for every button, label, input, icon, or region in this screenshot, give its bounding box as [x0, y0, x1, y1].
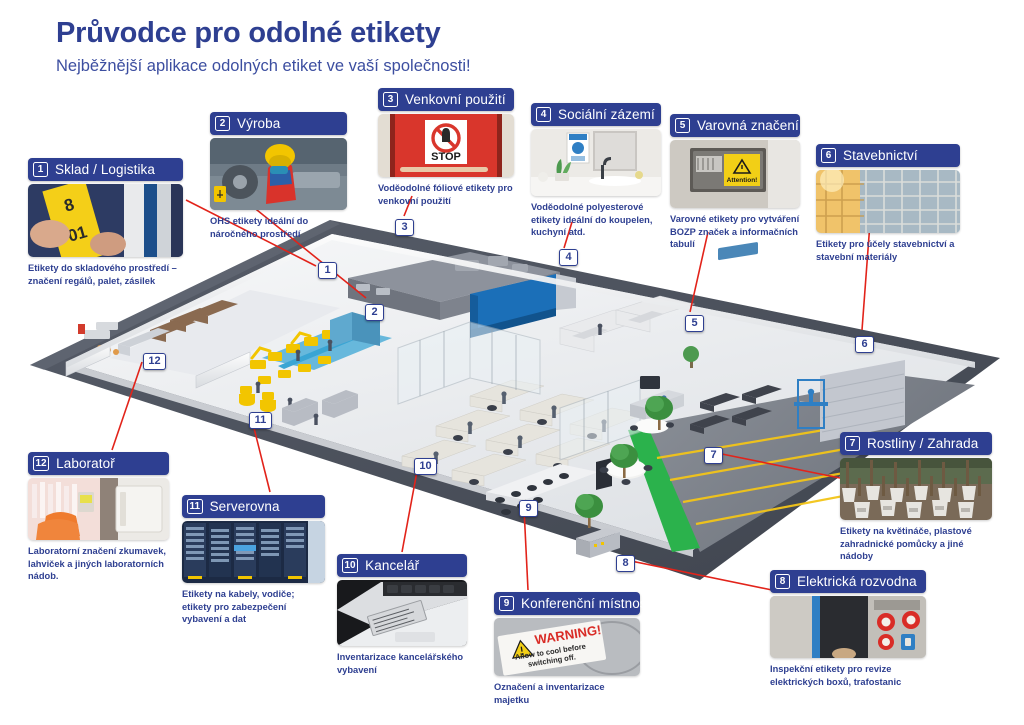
callout-photo-red-stop-sign-board: STOP: [378, 114, 514, 177]
callout-photo-server-racks: [182, 521, 325, 583]
callout-caption: Etikety na květináče, plastové zahradnic…: [840, 525, 992, 563]
callout-photo-lab-test-tubes-gloved-hand: [28, 478, 169, 540]
map-marker-5[interactable]: 5: [685, 315, 704, 332]
callout-number: 8: [775, 574, 790, 589]
callout-caption: Etikety na kabely, vodiče; etikety pro z…: [182, 588, 325, 626]
callout-caption: Laboratorní značení zkumavek, lahviček a…: [28, 545, 169, 583]
marker-label: 4: [565, 252, 571, 263]
callout-header: 7 Rostliny / Zahrada: [840, 432, 992, 455]
callout-card-1[interactable]: 1 Sklad / Logistika 8 01 Etikety do skla…: [28, 158, 183, 287]
callout-number: 1: [33, 162, 48, 177]
map-marker-6[interactable]: 6: [855, 336, 874, 353]
callout-caption: Inventarizace kancelářského vybavení: [337, 651, 467, 676]
callout-number: 7: [845, 436, 860, 451]
map-marker-9[interactable]: 9: [519, 500, 538, 517]
callout-caption: Označení a inventarizace majetku: [494, 681, 640, 706]
callout-header: 6 Stavebnictví: [816, 144, 960, 167]
callout-title: Serverovna: [210, 499, 280, 514]
callout-photo-electrical-substation-sockets: [770, 596, 926, 658]
callout-number: 11: [187, 499, 203, 514]
map-marker-7[interactable]: 7: [704, 447, 723, 464]
marker-label: 11: [255, 415, 267, 426]
marker-label: 9: [525, 503, 531, 514]
callout-card-11[interactable]: 11 Serverovna: [182, 495, 325, 626]
marker-label: 10: [419, 461, 431, 472]
callout-card-4[interactable]: 4 Sociální zázemí: [531, 103, 661, 239]
stop-sign-text: STOP: [431, 151, 461, 163]
callout-caption: Varovné etikety pro vytváření BOZP znače…: [670, 213, 800, 251]
callout-card-7[interactable]: 7 Rostliny / Zahrada: [840, 432, 992, 563]
callout-title: Sklad / Logistika: [55, 162, 155, 177]
callout-title: Kancelář: [365, 558, 419, 573]
marker-label: 12: [148, 356, 160, 367]
callout-photo-factory-worker-lathe: [210, 138, 347, 210]
callout-card-8[interactable]: 8 Elektrická rozvodna: [770, 570, 926, 688]
callout-number: 12: [33, 456, 49, 471]
callout-card-9[interactable]: 9 Konferenční místnost WARNING! Allow to…: [494, 592, 640, 706]
callout-photo-bathroom-sink-sign: [531, 129, 661, 196]
page-header: Průvodce pro odolné etikety Nejběžnější …: [56, 18, 471, 77]
callout-card-12[interactable]: 12 Laboratoř: [28, 452, 169, 583]
reception-monitor: [640, 376, 660, 389]
marker-label: 8: [622, 558, 628, 569]
callout-title: Výroba: [237, 116, 280, 131]
callout-photo-construction-scaffolding: [816, 170, 960, 233]
map-marker-1[interactable]: 1: [318, 262, 337, 279]
callout-photo-potted-plants-nursery: [840, 458, 992, 520]
map-marker-11[interactable]: 11: [249, 412, 272, 429]
callout-header: 8 Elektrická rozvodna: [770, 570, 926, 593]
callout-number: 10: [342, 558, 358, 573]
lab-red-cabinet: [78, 324, 85, 334]
callout-caption: Etikety pro účely stavebnictví a stavebn…: [816, 238, 960, 263]
callout-header: 5 Varovná značení: [670, 114, 800, 137]
callout-header: 12 Laboratoř: [28, 452, 169, 475]
callout-caption: Etikety do skladového prostředí – značen…: [28, 262, 183, 287]
callout-title: Stavebnictví: [843, 148, 918, 163]
callout-header: 3 Venkovní použití: [378, 88, 514, 111]
map-marker-3[interactable]: 3: [395, 219, 414, 236]
callout-caption: Voděodolné polyesterové etikety ideální …: [531, 201, 661, 239]
callout-title: Konferenční místnost: [521, 596, 651, 611]
callout-card-2[interactable]: 2 Výroba OHS etikety ideální do náročnéh…: [210, 112, 347, 240]
map-marker-10[interactable]: 10: [414, 458, 437, 475]
callout-card-3[interactable]: 3 Venkovní použití STOP Voděodolné fólio…: [378, 88, 514, 207]
callout-number: 2: [215, 116, 230, 131]
callout-header: 9 Konferenční místnost: [494, 592, 640, 615]
callout-caption: Voděodolné fóliové etikety pro venkovní …: [378, 182, 514, 207]
marker-label: 6: [861, 339, 867, 350]
map-marker-8[interactable]: 8: [616, 555, 635, 572]
callout-title: Venkovní použití: [405, 92, 506, 107]
callout-number: 3: [383, 92, 398, 107]
callout-card-5[interactable]: 5 Varovná značení Attention!: [670, 114, 800, 251]
page-subtitle: Nejběžnější aplikace odolných etiket ve …: [56, 57, 471, 77]
callout-title: Laboratoř: [56, 456, 115, 471]
callout-title: Elektrická rozvodna: [797, 574, 917, 589]
callout-header: 4 Sociální zázemí: [531, 103, 661, 126]
callout-number: 4: [536, 107, 551, 122]
callout-number: 9: [499, 596, 514, 611]
callout-photo-warning-cool-before-switching-label: WARNING! Allow to cool before switching …: [494, 618, 640, 676]
callout-header: 11 Serverovna: [182, 495, 325, 518]
callout-number: 5: [675, 118, 690, 133]
attention-sign-text: Attention!: [727, 177, 758, 184]
callout-card-6[interactable]: 6 Stavebnictví: [816, 144, 960, 263]
infographic-page: Průvodce pro odolné etikety Nejběžnější …: [0, 0, 1024, 725]
callout-header: 10 Kancelář: [337, 554, 467, 577]
marker-label: 3: [401, 222, 407, 233]
callout-photo-yellow-tag-on-rack: 8 01: [28, 184, 183, 257]
callout-number: 6: [821, 148, 836, 163]
callout-title: Rostliny / Zahrada: [867, 436, 978, 451]
page-title: Průvodce pro odolné etikety: [56, 18, 471, 50]
callout-caption: OHS etikety ideální do náročného prostře…: [210, 215, 347, 240]
callout-title: Varovná značení: [697, 118, 799, 133]
callout-card-10[interactable]: 10 Kancelář: [337, 554, 467, 676]
map-marker-12[interactable]: 12: [143, 353, 166, 370]
callout-header: 2 Výroba: [210, 112, 347, 135]
marker-label: 1: [324, 265, 330, 276]
callout-photo-electrical-box-attention: Attention!: [670, 140, 800, 208]
marker-label: 7: [710, 450, 716, 461]
marker-label: 2: [371, 307, 377, 318]
callout-header: 1 Sklad / Logistika: [28, 158, 183, 181]
map-marker-2[interactable]: 2: [365, 304, 384, 321]
callout-title: Sociální zázemí: [558, 107, 655, 122]
callout-caption: Inspekční etikety pro revize elektrickýc…: [770, 663, 926, 688]
marker-label: 5: [691, 318, 697, 329]
callout-photo-laptop-asset-label: [337, 580, 467, 646]
map-marker-4[interactable]: 4: [559, 249, 578, 266]
